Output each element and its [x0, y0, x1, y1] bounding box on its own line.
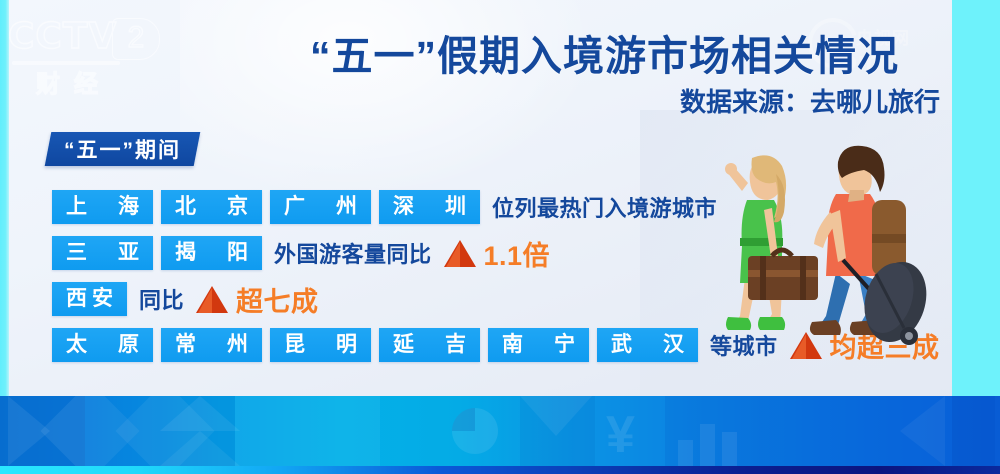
stats-highlight-value: 超七成	[236, 280, 319, 319]
stats-row-text: 位列最热门入境游城市	[492, 191, 717, 223]
city-chip[interactable]: 北 京	[161, 190, 262, 224]
broadcast-graphic: CCTV 2 财经 央视网 com “五一”假期入境游市场相关情况 数据来源：去…	[0, 0, 1000, 474]
cctv-channel-number: 2	[112, 18, 160, 60]
city-chip[interactable]: 广 州	[270, 190, 371, 224]
city-chip[interactable]: 延 吉	[379, 328, 480, 362]
city-chip[interactable]: 揭 阳	[161, 236, 262, 270]
stats-highlight-value: 1.1倍	[484, 234, 551, 273]
period-banner: “五一”期间	[45, 132, 201, 166]
yen-symbol-icon: ¥	[606, 400, 635, 470]
up-triangle-icon	[196, 286, 228, 313]
stats-row: 上 海北 京广 州深 圳位列最热门入境游城市	[52, 190, 752, 224]
stats-row: 太 原常 州昆 明延 吉南 宁武 汉等城市均超三成	[52, 328, 752, 362]
bar-chart-icon	[678, 440, 693, 466]
city-chip[interactable]: 武 汉	[597, 328, 698, 362]
city-chip[interactable]: 深 圳	[379, 190, 480, 224]
city-chip[interactable]: 常 州	[161, 328, 262, 362]
cctv-channel-logo: CCTV 2 财经	[8, 16, 168, 94]
triangle-icon-2	[160, 431, 240, 466]
band-block-4	[520, 396, 595, 466]
city-chip[interactable]: 西安	[52, 282, 127, 316]
bar-chart-bar-2	[700, 424, 715, 466]
cctv-logo-subtext: 财经	[36, 64, 112, 99]
data-source-subtitle: 数据来源：去哪儿旅行	[310, 82, 940, 119]
city-chip[interactable]: 太 原	[52, 328, 153, 362]
city-chip[interactable]: 上 海	[52, 190, 153, 224]
city-chip[interactable]: 南 宁	[488, 328, 589, 362]
stats-row-text: 外国游客量同比	[274, 237, 432, 269]
chevron-left-icon	[900, 396, 945, 466]
up-triangle-icon	[444, 240, 476, 267]
band-block-right	[952, 396, 1000, 466]
period-banner-label: “五一”期间	[64, 134, 181, 164]
right-edge-accent	[952, 0, 1000, 397]
bar-chart-bar-3	[722, 432, 737, 466]
stats-row-list: 上 海北 京广 州深 圳位列最热门入境游城市三 亚揭 阳外国游客量同比1.1倍西…	[52, 190, 752, 374]
page-title: “五一”假期入境游市场相关情况	[310, 22, 940, 82]
stats-row: 西安同比超七成	[52, 282, 752, 316]
band-block-3	[235, 396, 380, 466]
stats-row-text: 同比	[139, 283, 184, 315]
stats-row: 三 亚揭 阳外国游客量同比1.1倍	[52, 236, 752, 270]
triangle-icon	[160, 396, 240, 431]
bottom-decorative-band: ¥	[0, 396, 1000, 474]
band-bottom-strip	[0, 466, 1000, 474]
city-chip[interactable]: 三 亚	[52, 236, 153, 270]
two-travelers-illustration	[690, 138, 940, 363]
city-chip[interactable]: 昆 明	[270, 328, 371, 362]
